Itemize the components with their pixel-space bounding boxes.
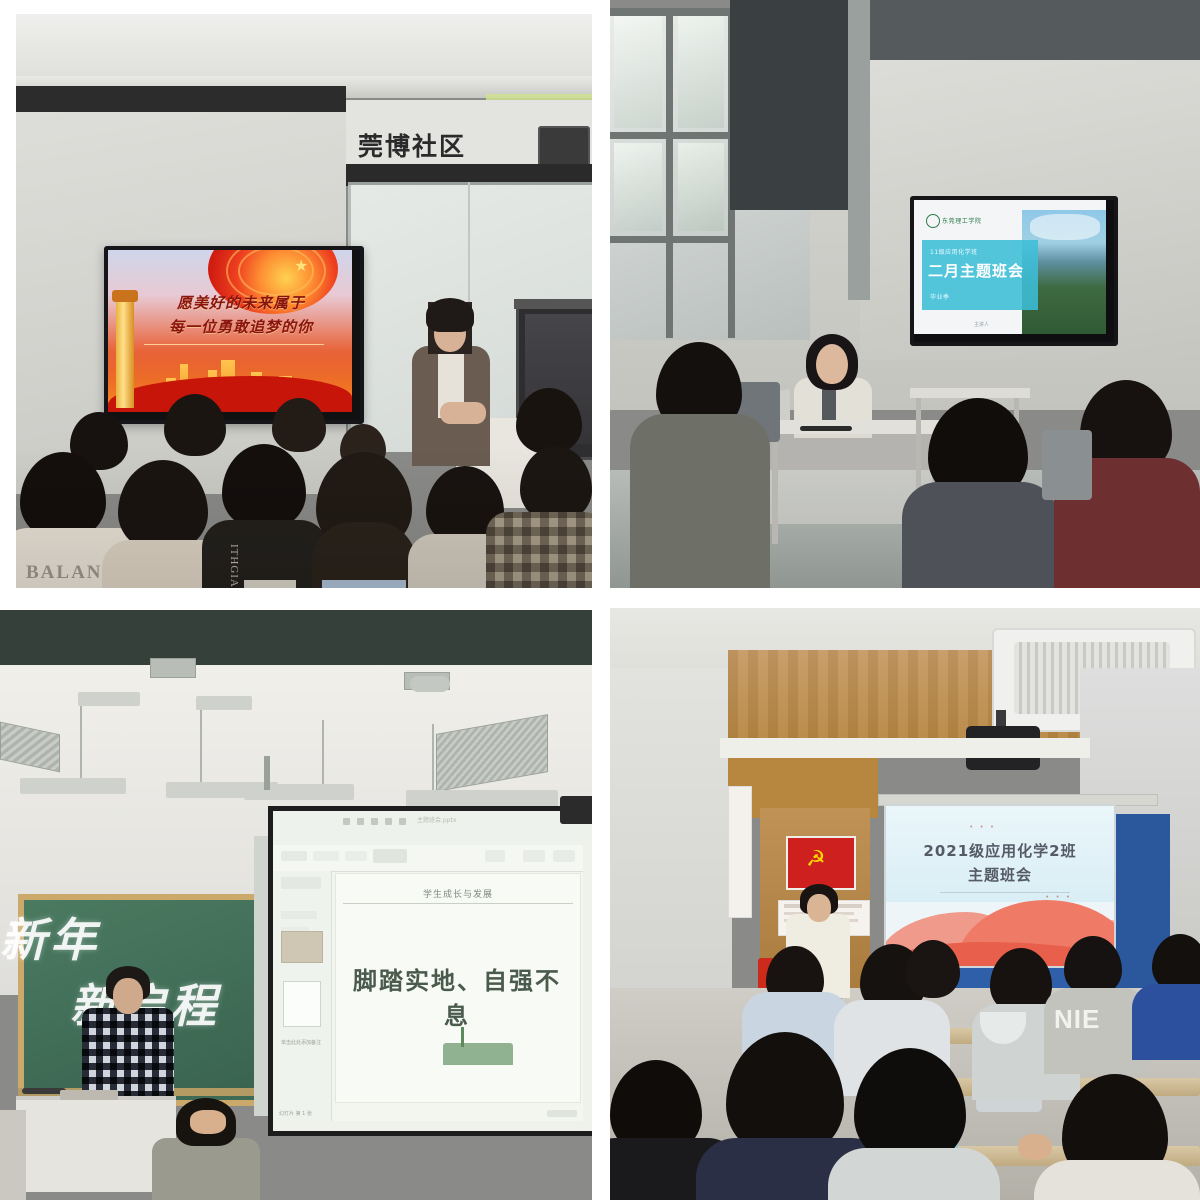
hoodie-print: NIE [1054,1004,1100,1035]
student-body [152,1138,260,1200]
lamp-rod [432,724,434,790]
slide-subtitle: 毕业季 [930,292,950,301]
projector [560,796,592,824]
notes-placeholder[interactable]: 单击此处添加备注 [281,1039,327,1046]
window-pane [678,143,724,231]
scene-seminar-room: 东莞理工学院 11级应用化学班 二月主题班会 毕业季 主讲人 [610,0,1200,588]
redo-icon[interactable] [371,818,378,825]
presenter-face [113,978,143,1014]
scene-classroom: ☭ • • • 2021级应用化学2班 主题班会 • • • [610,608,1200,1200]
undo-icon[interactable] [357,818,364,825]
powerpoint-titlebar[interactable]: 主题班会.pptx [273,811,583,846]
slide-title: 二月主题班会 [928,260,1033,281]
slide-main-text: 脚踏实地、自强不息 [343,961,571,1031]
window-pane [614,16,662,128]
student-body [1132,984,1200,1060]
student-body [902,482,1058,588]
present-icon[interactable] [399,818,406,825]
ribbon-tab-insert[interactable] [313,851,339,861]
slide-footer: 主讲人 [974,321,989,328]
window-pane [614,143,662,231]
teacher-face [816,344,848,384]
photo-panel-bottom-right[interactable]: ☭ • • • 2021级应用化学2班 主题班会 • • • [610,608,1200,1200]
slide-divider-line [144,344,324,345]
student-head [1064,936,1122,996]
slide-headline-line1: 愿美好的未来属于 [146,292,336,313]
chalkboard-text-line1: 新年 [0,904,140,970]
slide-monument-column [116,298,134,408]
slide-title-line1: 2021级应用化学2班 [886,840,1114,861]
ceiling-fixture [78,692,140,706]
print-icon[interactable] [385,818,392,825]
ribbon-tab-design[interactable] [345,851,367,861]
powerpoint-ribbon[interactable] [273,845,583,872]
student-hand [190,1110,226,1134]
slide-red-theme: ★ 愿美好的未来属于 每一位勇敢追梦的你 [108,250,352,412]
window-pane [678,16,724,128]
student-body-foreground [828,1148,1000,1200]
side-desk-top [910,388,1030,398]
slide-header-rule [343,903,573,904]
slide-february-meeting: 东莞理工学院 11级应用化学班 二月主题班会 毕业季 主讲人 [914,200,1106,334]
ceiling-duct [150,658,196,678]
ribbon-shapes[interactable] [485,850,505,862]
zoom-slider[interactable] [547,1110,577,1117]
ceiling-projector-mount [410,676,450,692]
audience-shadow [16,444,592,588]
presenter-body-plaid [82,1008,174,1098]
speaker-hair [426,298,474,332]
desk-pen [800,426,852,431]
university-logo-icon [926,214,940,228]
photo-panel-bottom-left[interactable]: 新年 新启程 主题班会.pptx [0,610,592,1200]
powerpoint-app-title: 主题班会.pptx [417,815,456,824]
student-body-foreground [1034,1160,1200,1200]
dark-column [730,0,860,210]
glass-top-rail [348,182,592,185]
presenter-face [807,894,831,922]
wall-dark-band [16,86,346,112]
lectern-ledge [60,1090,118,1100]
powerpoint-status-bar: 幻灯片 第 1 张 [279,1110,312,1117]
slide-title-line2: 主题班会 [886,864,1114,885]
ribbon-arrange[interactable] [523,850,545,862]
ceiling-fixture [196,696,252,710]
lamp-rod [200,706,202,784]
chair [1042,430,1092,500]
slide-header-text: 学生成长与发展 [393,887,523,900]
window-mullion [666,8,673,338]
light-cove [720,738,1090,758]
student-head [906,940,960,998]
structural-column [848,0,870,300]
slide-underline [940,892,1070,893]
slide-monument-cap [112,290,138,302]
save-icon[interactable] [343,818,350,825]
slide-headline-line2: 每一位勇敢追梦的你 [146,316,336,337]
slide-thumbnail[interactable] [281,931,323,963]
ribbon-editing[interactable] [553,850,575,862]
ribbon-font-box[interactable] [373,849,407,863]
wall-poster-strip [728,786,752,918]
hammer-sickle-icon: ☭ [806,848,826,870]
side-desk-leg [916,398,921,494]
student-hand [1018,1134,1052,1160]
pendant-lamp [244,784,354,800]
ribbon-tab-home[interactable] [281,851,307,861]
slide-spire-graphic [461,1027,464,1047]
side-cabinet [0,1110,26,1200]
mic-boom [264,756,270,790]
slide-deco-dots-bottom: • • • [1046,894,1072,901]
scene-lecture-hall: 新年 新启程 主题班会.pptx [0,610,592,1200]
slide-city-graphic [443,1043,513,1065]
cabinet-top [514,299,592,309]
photo-panel-top-left[interactable]: 莞博社区 ★ [16,14,592,588]
outline-item[interactable] [281,877,321,889]
powerpoint-window[interactable]: 主题班会.pptx 单击此处添加备注 [273,811,583,1121]
slide-eyebrow: 11级应用化学班 [930,247,978,256]
outline-item[interactable] [281,911,317,919]
scene-community-room: 莞博社区 ★ [16,14,592,588]
slide-photo-clouds [1030,214,1100,240]
slide-star-glyph: ★ [294,256,308,276]
slide-deco-dots-top: • • • [970,824,996,831]
desk-leg [772,434,778,544]
window-transom [610,236,735,243]
window-transom [610,132,735,139]
community-sign-text: 莞博社区 [358,127,466,163]
pendant-lamp [20,778,126,794]
slide-thumbnail[interactable] [283,981,321,1027]
student-body [630,414,770,588]
photo-collage: 莞博社区 ★ [0,0,1200,1200]
lamp-rod [80,706,82,780]
photo-panel-top-right[interactable]: 东莞理工学院 11级应用化学班 二月主题班会 毕业季 主讲人 [610,0,1200,588]
university-name: 东莞理工学院 [942,216,982,225]
lamp-rod [322,720,324,786]
